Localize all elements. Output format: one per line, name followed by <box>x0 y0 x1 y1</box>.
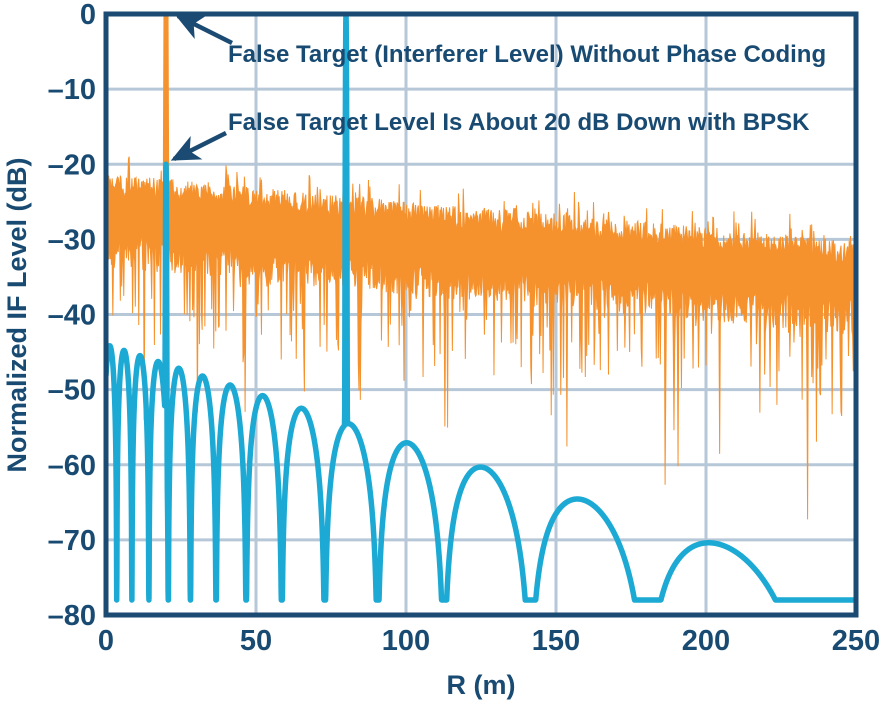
x-tick-label: 0 <box>98 625 114 657</box>
chart-figure: 050100150200250 0–10–20–30–40–50–60–70–8… <box>0 0 884 714</box>
y-tick-label: 0 <box>80 0 96 31</box>
y-tick-labels: 0–10–20–30–40–50–60–70–80 <box>48 0 96 632</box>
x-axis-title: R (m) <box>447 670 516 700</box>
x-tick-label: 250 <box>832 625 880 657</box>
y-tick-label: –50 <box>48 375 96 407</box>
y-tick-label: –20 <box>48 149 96 181</box>
x-tick-label: 150 <box>532 625 580 657</box>
y-tick-label: –40 <box>48 300 96 332</box>
x-tick-label: 50 <box>240 625 272 657</box>
y-tick-label: –10 <box>48 74 96 106</box>
annotation-label-no-coding: False Target (Interferer Level) Without … <box>228 41 826 68</box>
x-tick-label: 200 <box>682 625 730 657</box>
y-tick-label: –80 <box>48 600 96 632</box>
x-tick-label: 100 <box>382 625 430 657</box>
y-tick-label: –30 <box>48 224 96 256</box>
y-axis-title: Normalized IF Level (dB) <box>2 157 32 472</box>
annotation-label-bpsk: False Target Level Is About 20 dB Down w… <box>228 109 810 136</box>
y-tick-label: –60 <box>48 450 96 482</box>
radar-if-level-chart: 050100150200250 0–10–20–30–40–50–60–70–8… <box>0 0 884 714</box>
y-tick-label: –70 <box>48 525 96 557</box>
